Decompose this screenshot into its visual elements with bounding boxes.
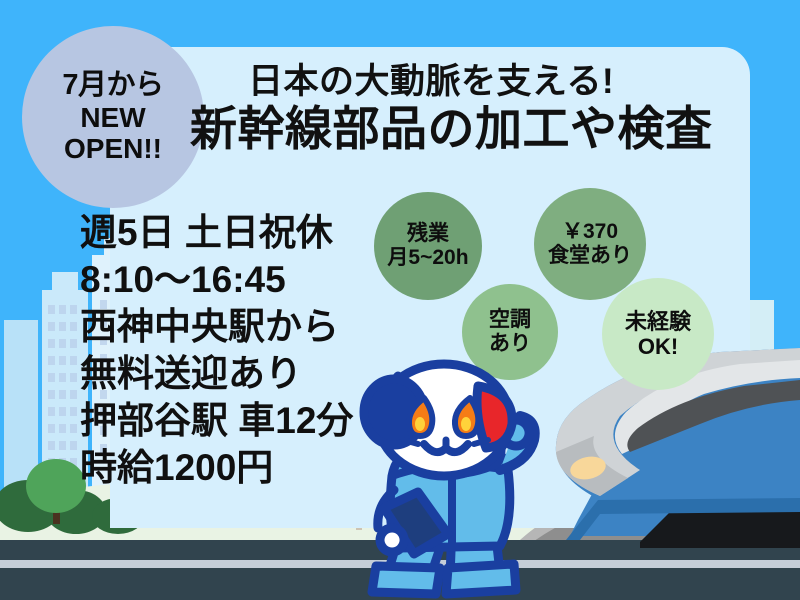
mascot-whisker-right [474, 440, 488, 444]
mascot-foot-right [446, 564, 516, 594]
mascot-hand-left [380, 528, 404, 552]
mascot-illustration [0, 0, 800, 600]
mascot-foot-left [372, 566, 440, 594]
mascot-whisker-left [404, 440, 418, 444]
mascot-eye-pupil-right [461, 417, 471, 431]
job-ad-poster: 7月から NEW OPEN!! 日本の大動脈を支える! 新幹線部品の加工や検査 … [0, 0, 800, 600]
mascot-group [364, 364, 535, 594]
mascot-eye-pupil-left [415, 417, 425, 431]
